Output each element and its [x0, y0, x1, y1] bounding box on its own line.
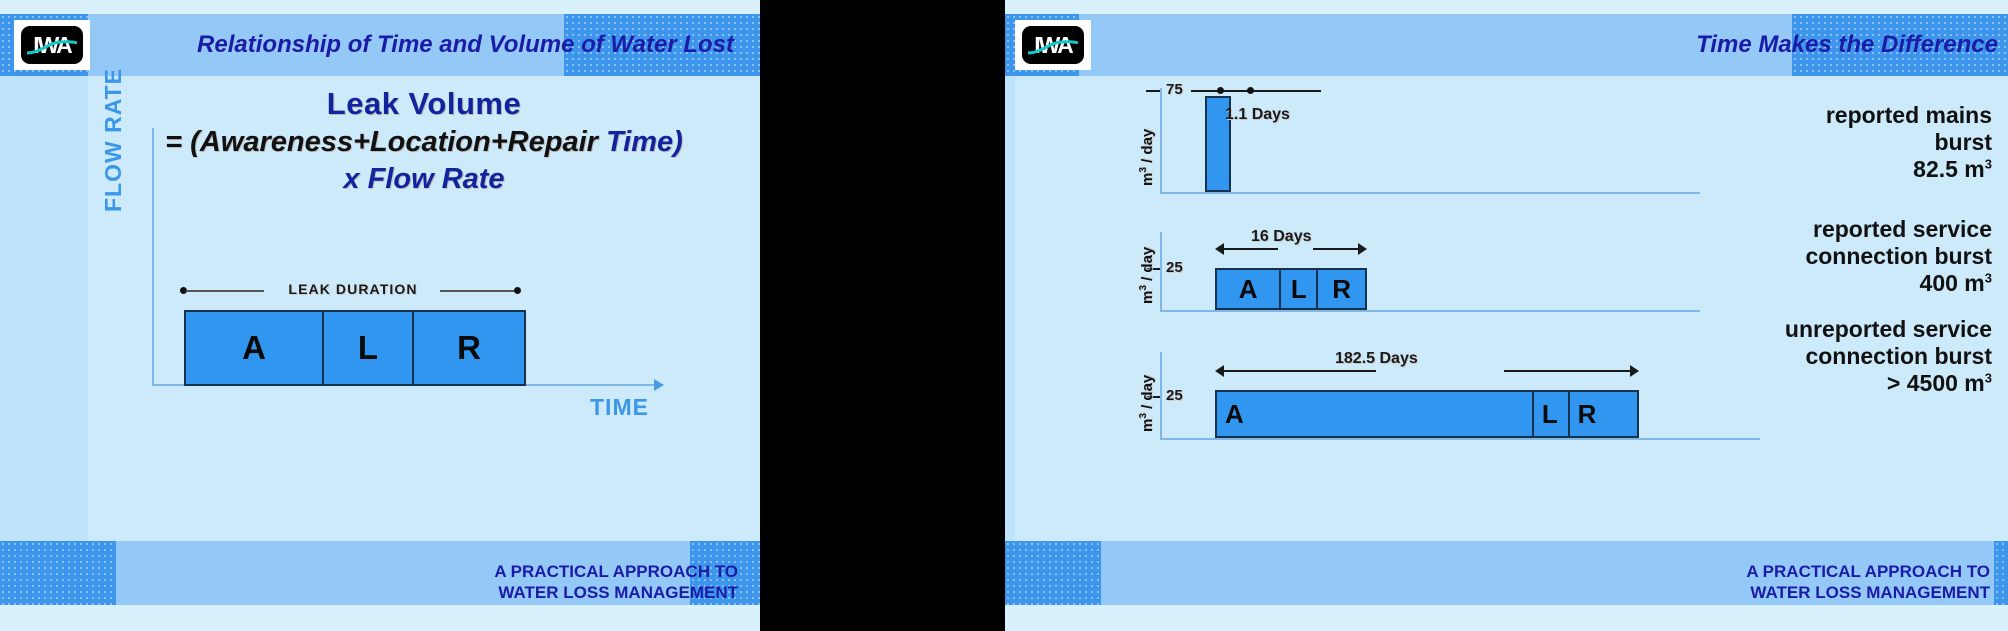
bar-segment-r: R	[1570, 392, 1637, 436]
burst-description-line: reported mains	[1572, 102, 1992, 129]
y-axis-tick-label: 75	[1166, 81, 1183, 98]
chart-row: 75m3 / day1.1 Daysreported mainsburst82.…	[1005, 88, 2008, 192]
duration-line-right	[440, 290, 515, 292]
duration-label: 16 Days	[1251, 228, 1312, 246]
row-y-axis	[1160, 88, 1162, 192]
burst-description-line: connection burst	[1572, 343, 1992, 370]
measure-dot-left-icon	[1217, 87, 1224, 94]
footer-line-2: WATER LOSS MANAGEMENT	[494, 582, 738, 603]
alr-segment-a: A	[186, 312, 324, 384]
row-x-axis	[1160, 310, 1700, 312]
footer-dot-pattern-left	[1005, 541, 1101, 605]
duration-line-left	[186, 290, 264, 292]
burst-description-line: reported service	[1572, 216, 1992, 243]
row-y-axis-label: m3 / day	[1138, 247, 1156, 304]
alr-segment-l: L	[324, 312, 414, 384]
slide-right-header-title: Time Makes the Difference	[1696, 14, 1998, 76]
iwa-wave-icon	[1027, 40, 1079, 56]
leak-duration-measure: LEAK DURATION	[178, 281, 523, 301]
row-y-axis	[1160, 232, 1162, 310]
x-axis-label: TIME	[590, 394, 649, 421]
alr-segment-bar: ALR	[184, 310, 526, 386]
y-axis-tick-label: 25	[1166, 387, 1183, 404]
duration-label: 1.1 Days	[1225, 106, 1290, 124]
time-axis-arrow-icon	[654, 379, 664, 391]
slide-left-footer: A PRACTICAL APPROACH TO WATER LOSS MANAG…	[494, 561, 738, 604]
measure-arrow-right-icon	[1358, 243, 1367, 255]
duration-endpoint-right-icon	[514, 287, 521, 294]
iwa-logo-mark: IWA	[21, 26, 83, 64]
slide-divider	[760, 0, 1005, 631]
leak-volume-formula: Leak Volume = (Awareness+Location+Repair…	[88, 86, 760, 196]
y-axis-tick-label: 25	[1166, 259, 1183, 276]
slide-right-footer: A PRACTICAL APPROACH TO WATER LOSS MANAG…	[1746, 561, 1990, 604]
measure-dot-right-icon	[1247, 87, 1254, 94]
leak-duration-label: LEAK DURATION	[264, 281, 442, 297]
formula-line-2-prefix: = (Awareness+Location+Repair	[165, 126, 598, 158]
row-x-axis	[1160, 438, 1760, 440]
row-y-axis-label: m3 / day	[1138, 129, 1156, 186]
y-axis-tick	[1146, 90, 1160, 92]
duration-measure	[1191, 84, 1321, 98]
duration-label: 182.5 Days	[1335, 350, 1418, 368]
slide-left: IWA Relationship of Time and Volume of W…	[0, 0, 760, 631]
chart-row: 25m3 / dayALR16 Daysreported serviceconn…	[1005, 232, 2008, 310]
burst-description: reported mainsburst82.5 m3	[1572, 102, 1992, 183]
left-side-strip	[0, 76, 88, 541]
burst-description-line: connection burst	[1572, 243, 1992, 270]
footer-line-1: A PRACTICAL APPROACH TO	[494, 561, 738, 582]
burst-description-line: 400 m3	[1572, 270, 1992, 297]
bar-segment-l: L	[1281, 270, 1318, 308]
measure-line-left	[1223, 370, 1376, 372]
row-y-axis	[1160, 352, 1162, 438]
iwa-logo: IWA	[14, 20, 90, 70]
top-margin-band	[0, 0, 760, 14]
alr-segment-r: R	[414, 312, 524, 384]
footer-dot-pattern-left	[0, 541, 116, 605]
burst-description-line: burst	[1572, 129, 1992, 156]
iwa-wave-icon	[26, 40, 78, 56]
slide-left-header-title: Relationship of Time and Volume of Water…	[197, 14, 734, 76]
row-y-axis-label: m3 / day	[1138, 375, 1156, 432]
formula-line-2-suffix: Time)	[598, 126, 683, 158]
bar-segment-l: L	[1534, 392, 1570, 436]
formula-line-2: = (Awareness+Location+Repair Time)	[88, 126, 760, 159]
footer-line-2: WATER LOSS MANAGEMENT	[1746, 582, 1990, 603]
bar-segment-a: A	[1217, 270, 1281, 308]
burst-description-line: 82.5 m3	[1572, 156, 1992, 183]
flow-rate-axis	[152, 128, 154, 386]
footer-line-1: A PRACTICAL APPROACH TO	[1746, 561, 1990, 582]
iwa-logo-mark: IWA	[1022, 26, 1084, 64]
bar-segment-r: R	[1318, 270, 1365, 308]
measure-line-left	[1223, 248, 1278, 250]
measure-line-right	[1313, 248, 1359, 250]
burst-description-line: unreported service	[1572, 316, 1992, 343]
top-margin-band	[1005, 0, 2008, 14]
bottom-margin-band	[0, 605, 760, 631]
slide-right: IWA Time Makes the Difference 75m3 / day…	[1005, 0, 2008, 631]
bar-segment-a: A	[1217, 392, 1534, 436]
footer-dot-pattern-right	[1994, 541, 2008, 605]
burst-bar: ALR	[1215, 268, 1367, 310]
y-axis-label: FLOW RATE	[100, 68, 127, 212]
bottom-margin-band	[1005, 605, 2008, 631]
screenshot-stage: IWA Relationship of Time and Volume of W…	[0, 0, 2008, 631]
row-x-axis	[1160, 192, 1700, 194]
iwa-logo: IWA	[1015, 20, 1091, 70]
measure-line	[1191, 90, 1321, 92]
chart-row: 25m3 / dayALR182.5 Daysunreported servic…	[1005, 352, 2008, 438]
formula-line-3: x Flow Rate	[88, 163, 760, 196]
burst-description: unreported serviceconnection burst> 4500…	[1572, 316, 1992, 397]
formula-line-1: Leak Volume	[88, 86, 760, 122]
burst-description: reported serviceconnection burst400 m3	[1572, 216, 1992, 297]
burst-description-line: > 4500 m3	[1572, 370, 1992, 397]
